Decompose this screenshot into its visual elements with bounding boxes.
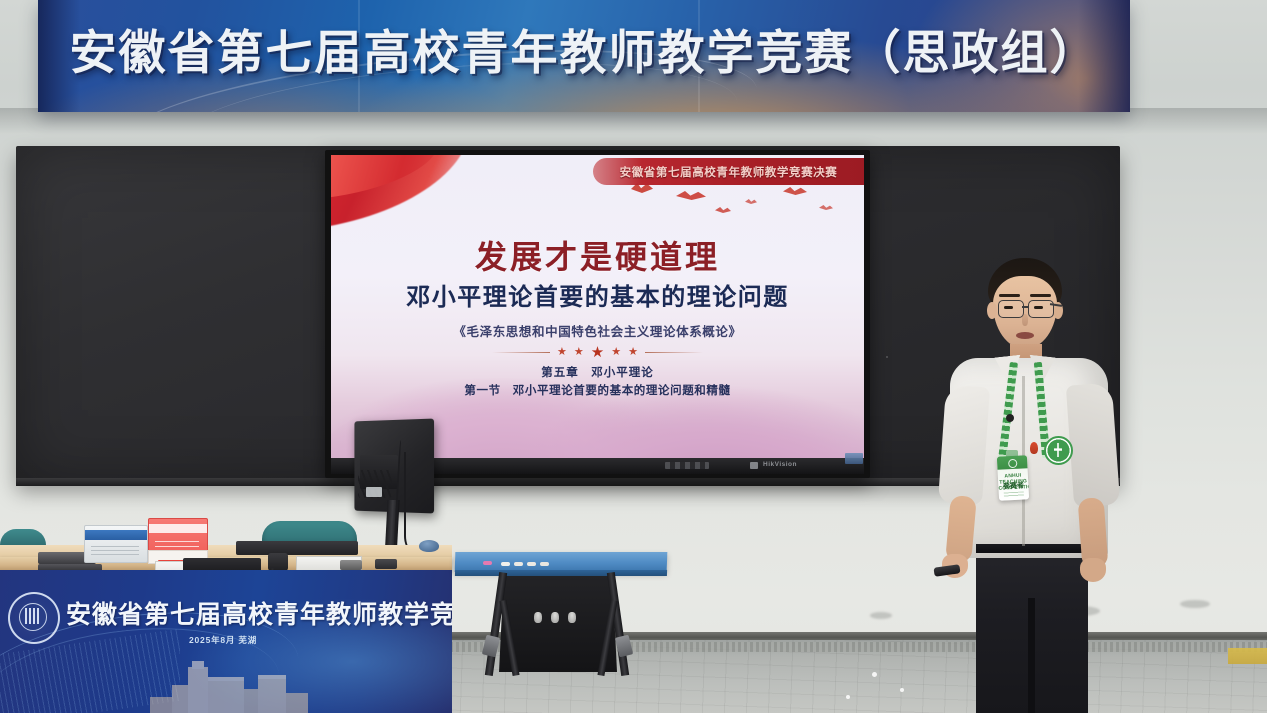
floor-yellow-marking <box>1228 648 1267 664</box>
badge-header-band <box>997 455 1028 470</box>
table-panel-hole <box>551 612 559 623</box>
star-icon: ★ <box>557 347 567 358</box>
star-icon: ★ <box>574 347 584 358</box>
keyboard-back[interactable] <box>236 541 358 555</box>
city-skyline-graphic <box>150 659 330 713</box>
lecture-hall-photo: 安徽省第七届高校青年教师教学竞赛（思政组） 安徽省第七届高校青年教师教学竞赛决赛… <box>0 0 1267 713</box>
wall-scuff <box>1180 600 1210 608</box>
shirt-logo-icon <box>1044 436 1073 465</box>
desk-item-black[interactable] <box>375 559 397 569</box>
presentation-slide: 安徽省第七届高校青年教师教学竞赛决赛 发展才是硬道理 邓小平理论首要的基本的理论… <box>331 155 864 458</box>
box-band <box>149 524 207 533</box>
table-panel-hole <box>568 612 576 623</box>
display-ir-sensor <box>845 453 863 464</box>
speaker-ear <box>987 302 997 319</box>
speaker-hand-right <box>1080 558 1106 582</box>
slide-star-divider: ★ ★ ★ ★ ★ <box>331 345 864 360</box>
chalk-speck <box>886 356 888 358</box>
speaker: ANHUI TEACHING COMPETITION 参赛者 <box>930 258 1140 713</box>
university-emblem-icon <box>8 592 60 644</box>
shirt-sleeve-right <box>1066 383 1120 508</box>
folding-table-panel <box>499 576 617 672</box>
star-icon: ★ <box>611 347 621 358</box>
speaker-eyebrow <box>1030 294 1051 297</box>
eyeglasses-bridge <box>1022 306 1028 308</box>
speaker-badge: ANHUI TEACHING COMPETITION 参赛者 <box>997 455 1029 501</box>
wall-scuff <box>870 612 892 619</box>
desk-banner-date: 2025年8月 芜湖 <box>189 634 257 646</box>
speaker-nose <box>1022 314 1028 326</box>
floor-debris <box>872 672 877 677</box>
event-banner-title: 安徽省第七届高校青年教师教学竞赛（思政组） <box>38 14 1130 83</box>
box-label-lines <box>91 546 139 558</box>
display-brand-label: HikVision <box>763 461 797 468</box>
star-rule-right <box>645 352 703 353</box>
desk-banner: 安徽省第七届高校青年教师教学竞赛 2025年8月 芜湖 <box>0 570 452 713</box>
speaker-eye <box>1034 306 1043 309</box>
speaker-belt <box>976 544 1088 553</box>
computer-mouse[interactable] <box>419 540 439 552</box>
slide-section-line: 第一节 邓小平理论首要的基本的理论问题和精髓 <box>331 382 864 398</box>
star-icon: ★ <box>628 347 638 358</box>
star-rule-left <box>492 352 550 353</box>
speaker-mouth <box>1016 332 1034 339</box>
speaker-eyebrow <box>999 294 1020 297</box>
shirt-sleeve-left <box>938 385 990 506</box>
star-icon: ★ <box>591 345 604 360</box>
floor-debris <box>846 695 850 699</box>
clip-microphone-icon <box>1006 414 1014 422</box>
desk-banner-title: 安徽省第七届高校青年教师教学竞赛 <box>66 595 452 631</box>
slide-textbook-title: 《毛泽东思想和中国特色社会主义理论体系概论》 <box>331 321 864 340</box>
slide-heading: 发展才是硬道理 <box>331 232 864 278</box>
chalk-stick[interactable] <box>514 562 523 566</box>
event-banner: 安徽省第七届高校青年教师教学竞赛（思政组） <box>38 0 1130 112</box>
slide-subheading: 邓小平理论首要的基本的理论问题 <box>331 277 864 312</box>
badge-role-text: 参赛者 <box>998 480 1028 492</box>
lapel-pin-icon <box>1030 442 1038 454</box>
floor-debris <box>900 688 904 692</box>
speaker-eye <box>1004 306 1013 309</box>
chalk-stick[interactable] <box>540 562 549 566</box>
box-band <box>85 530 147 540</box>
display-logo-icon <box>750 462 758 469</box>
chalk-stick[interactable] <box>527 562 536 566</box>
badge-detail-lines <box>1004 491 1024 497</box>
eyeglasses-lens <box>998 300 1024 318</box>
supply-box-white[interactable] <box>84 525 148 563</box>
chalk-stick[interactable] <box>483 561 492 565</box>
display-control-buttons[interactable] <box>665 462 709 469</box>
monitor-label <box>366 487 382 497</box>
slide-chapter-line: 第五章 邓小平理论 <box>331 364 864 380</box>
folding-table-edge <box>455 570 667 576</box>
slide-text-block: 发展才是硬道理 邓小平理论首要的基本的理论问题 《毛泽东思想和中国特色社会主义理… <box>331 155 864 458</box>
chalk-stick[interactable] <box>501 562 510 566</box>
desk-item-gray[interactable] <box>340 560 362 570</box>
trouser-gap <box>1028 598 1035 713</box>
table-panel-hole <box>534 612 542 623</box>
